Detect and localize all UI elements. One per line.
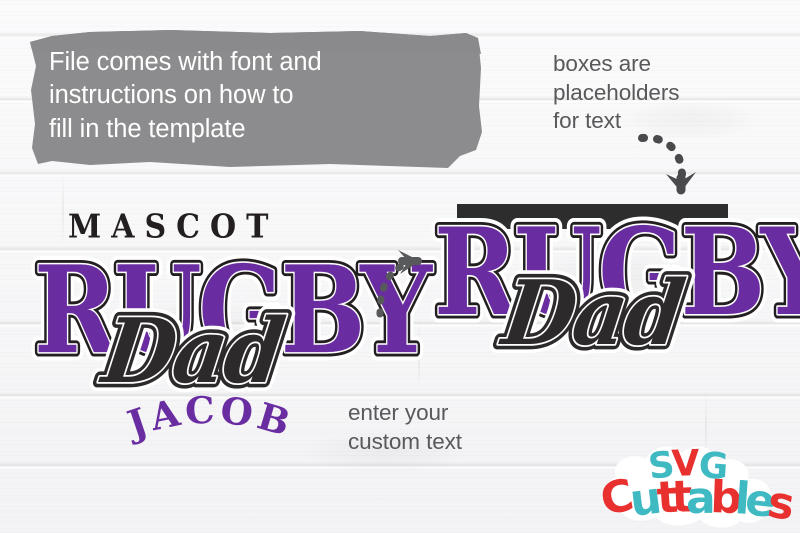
custom-text-note: enter your custom text	[348, 399, 548, 456]
svg-text:Dad: Dad	[494, 262, 689, 366]
banner-line-2: instructions on how to	[49, 79, 454, 112]
script-word-dad: Dad Dad Dad Dad	[494, 262, 689, 366]
svg-text:Dad: Dad	[94, 300, 289, 404]
placeholder-note: boxes are placeholders for text	[553, 50, 788, 136]
design-right-artwork: RUGBY RUGBY RUGBY RUGBY Dad Dad Dad Dad	[430, 192, 780, 402]
banner-line-3: fill in the template	[49, 113, 454, 146]
instructions-banner: File comes with font and instructions on…	[30, 28, 482, 168]
custom-text-note-line-1: enter your	[348, 399, 548, 428]
banner-line-1: File comes with font and	[49, 46, 454, 79]
logo-line-2: C u t t a b l e s	[596, 470, 798, 531]
dashed-curved-arrow-up-right-icon	[372, 244, 438, 320]
placeholder-note-line-1: boxes are	[553, 50, 788, 79]
design-filled-example: RUGBY MASCOT RUGBY RUGBY RUGBY RUGBY Dad…	[28, 192, 398, 442]
svg-cuttables-logo: S V G C u t t a b l e s	[576, 443, 792, 527]
placeholder-note-line-2: placeholders	[553, 79, 788, 108]
script-word-dad: Dad Dad Dad Dad	[94, 300, 289, 404]
logo-artwork: S V G C u t t a b l e s	[576, 443, 792, 527]
design-template: RUGBY RUGBY RUGBY RUGBY Dad Dad Dad Dad	[430, 192, 780, 402]
custom-text-note-line-2: custom text	[348, 428, 548, 457]
design-left-artwork: RUGBY MASCOT RUGBY RUGBY RUGBY RUGBY Dad…	[28, 192, 398, 442]
screenshot-canvas: File comes with font and instructions on…	[0, 0, 800, 533]
banner-text: File comes with font and instructions on…	[49, 46, 454, 146]
